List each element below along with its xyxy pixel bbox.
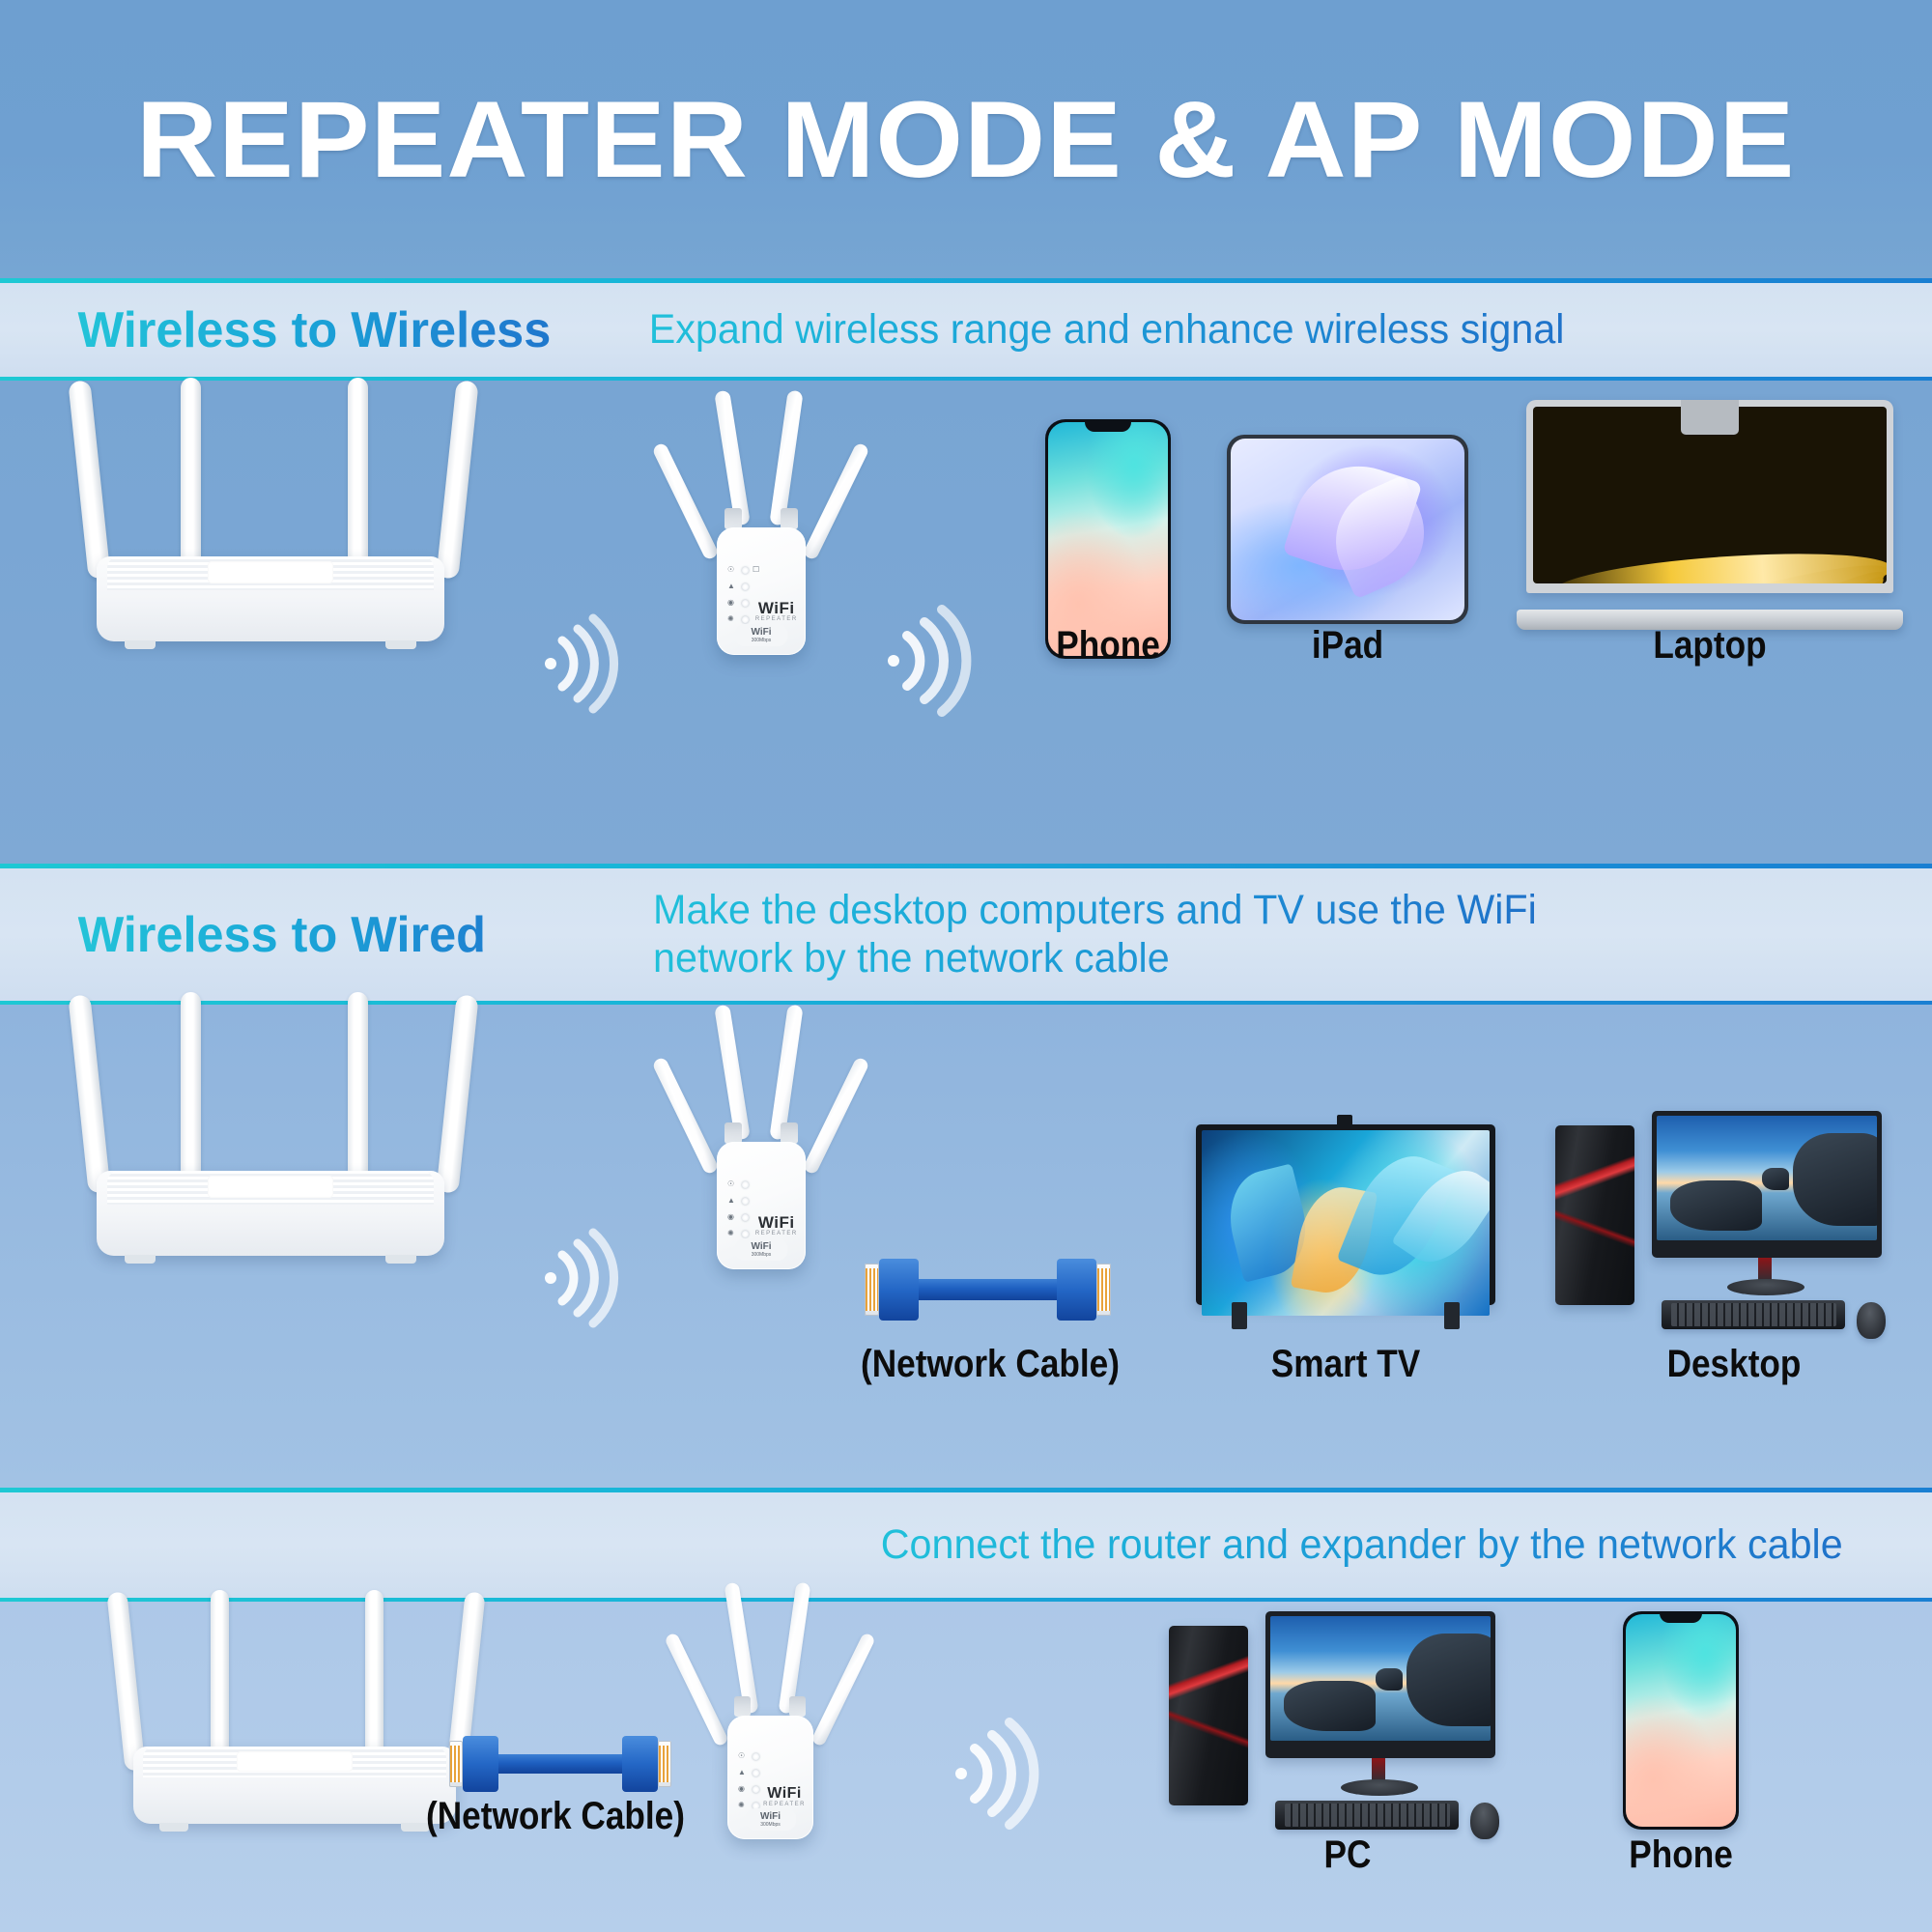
repeater-brand-primary: WiFi	[763, 1787, 806, 1801]
router-body	[97, 556, 444, 641]
repeater-antenna-hinge	[724, 1122, 742, 1144]
keyboard	[1662, 1300, 1845, 1329]
router-antenna	[436, 380, 478, 579]
wifi-icon: ◉	[727, 599, 738, 607]
led-indicator	[753, 1786, 759, 1793]
led-indicator	[742, 583, 749, 590]
band-description-wireless-to-wireless: Expand wireless range and enhance wirele…	[649, 306, 1565, 355]
cable-pins-right	[659, 1746, 670, 1782]
repeater-brand-primary: WiFi	[755, 1215, 798, 1230]
router-antenna	[211, 1590, 229, 1772]
led-indicator	[742, 1198, 749, 1205]
repeater-body: ☉ ▲ ◉ ✺	[717, 1142, 806, 1269]
keyboard	[1275, 1801, 1459, 1830]
led-indicator	[753, 1753, 759, 1760]
repeater-antenna	[802, 441, 869, 560]
power-icon: ☉	[738, 1752, 749, 1760]
repeater-device-2: ☉ ▲ ◉ ✺	[676, 1005, 850, 1285]
router-antenna	[348, 992, 368, 1193]
repeater-device-1: ☉ ☐ ▲ ◉ ✺	[676, 390, 850, 670]
tablet-screen	[1231, 439, 1464, 620]
phone-device-1	[1045, 419, 1171, 659]
signal-icon: ▲	[727, 1197, 738, 1205]
band-description-line2: network by the network cable	[653, 935, 1537, 983]
wifi-signal-router-to-repeater	[529, 1225, 645, 1331]
cable-pins-left	[450, 1746, 462, 1782]
router-foot	[125, 640, 156, 649]
tv-screen	[1202, 1130, 1490, 1316]
mouse	[1857, 1302, 1886, 1339]
router-antenna	[68, 994, 110, 1193]
repeater-antenna	[724, 1582, 758, 1715]
pc-tower	[1555, 1125, 1634, 1305]
repeater-spec-badge: WiFi 300Mbps	[735, 1238, 787, 1261]
section-body-wireless-to-wired: ☉ ▲ ◉ ✺	[0, 1005, 1932, 1488]
mouse	[1470, 1803, 1499, 1839]
monitor-wallpaper-stack	[1376, 1668, 1402, 1690]
signal-icon: ▲	[738, 1769, 749, 1776]
repeater-device-3: ☉ ▲ ◉ ✺	[688, 1582, 857, 1853]
keyboard-keys	[1671, 1303, 1836, 1326]
band-description-ap-mode: Connect the router and expander by the n…	[880, 1521, 1842, 1570]
router-device-2	[68, 995, 473, 1256]
phone-notch	[1085, 419, 1131, 432]
led-indicator	[742, 1214, 749, 1221]
ethernet-cable-3	[449, 1725, 671, 1803]
band-description-line1: Make the desktop computers and TV use th…	[653, 887, 1537, 935]
repeater-antenna	[664, 1632, 729, 1747]
pc-monitor	[1652, 1111, 1882, 1258]
caption-desktop: Desktop	[1615, 1343, 1853, 1386]
section-band-wireless-to-wired: Wireless to Wired Make the desktop compu…	[0, 864, 1932, 1005]
router-antenna	[436, 994, 478, 1193]
tablet-device-1	[1227, 435, 1468, 624]
wifi-signal-router-to-repeater	[529, 611, 645, 717]
tv-device	[1196, 1124, 1495, 1329]
router-antenna	[68, 380, 110, 579]
pc-tower	[1169, 1626, 1248, 1805]
phone-device-3	[1623, 1611, 1739, 1830]
router-label-plate	[208, 561, 333, 583]
desktop-pc-device	[1555, 1111, 1913, 1352]
router-device-1	[68, 381, 473, 641]
repeater-led-panel: ☉ ▲ ◉ ✺	[738, 1752, 759, 1812]
router-foot	[385, 640, 416, 649]
repeater-antenna-hinge	[781, 1122, 798, 1144]
router-foot	[125, 1255, 156, 1264]
router-brand-text	[208, 1181, 333, 1191]
monitor-wallpaper-stack	[1762, 1168, 1788, 1190]
led-indicator	[742, 1181, 749, 1188]
router-antenna	[365, 1590, 384, 1772]
caption-ipad: iPad	[1241, 624, 1454, 668]
page-title: REPEATER MODE & AP MODE	[136, 77, 1795, 202]
repeater-led-panel: ☉ ▲ ◉ ✺	[727, 1180, 749, 1240]
repeater-badge-primary: WiFi	[746, 1811, 796, 1822]
router-antenna	[181, 992, 201, 1193]
section-body-wireless-to-wireless: ☉ ☐ ▲ ◉ ✺	[0, 381, 1932, 864]
router-foot	[385, 1255, 416, 1264]
repeater-antenna	[651, 1056, 719, 1175]
repeater-badge-primary: WiFi	[735, 627, 787, 638]
router-device-3	[106, 1582, 483, 1824]
router-body	[97, 1171, 444, 1256]
monitor-base	[1727, 1279, 1804, 1295]
cable-plug-left	[463, 1736, 498, 1792]
repeater-antenna	[714, 1005, 751, 1141]
wifi-icon: ◉	[727, 1213, 738, 1221]
repeater-antenna-hinge	[724, 508, 742, 529]
router-label-plate	[208, 1176, 333, 1198]
repeater-brand-secondary: REPEATER	[755, 1231, 798, 1236]
repeater-brand-primary: WiFi	[755, 601, 798, 615]
repeater-antenna	[651, 441, 719, 560]
wps-gear-icon: ✺	[738, 1802, 749, 1809]
led-indicator	[742, 1231, 749, 1237]
router-brand-text	[208, 567, 333, 577]
router-antenna	[106, 1591, 145, 1771]
repeater-badge-primary: WiFi	[735, 1241, 787, 1252]
power-icon: ☉	[727, 566, 738, 574]
repeater-badge-secondary: 300Mbps	[746, 1822, 796, 1828]
pc-monitor-screen	[1657, 1116, 1877, 1240]
tv-camera	[1337, 1115, 1352, 1128]
router-brand-text	[237, 1756, 353, 1766]
repeater-badge-secondary: 300Mbps	[735, 1252, 787, 1258]
led-indicator	[742, 616, 749, 623]
ethernet-cable-2	[865, 1246, 1111, 1333]
infographic-page: REPEATER MODE & AP MODE Wireless to Wire…	[0, 0, 1932, 1932]
repeater-badge-secondary: 300Mbps	[735, 638, 787, 643]
caption-phone: Phone	[1002, 624, 1214, 668]
lan-icon: ☐	[753, 566, 763, 574]
tv-foot	[1232, 1302, 1247, 1329]
router-label-plate	[237, 1751, 353, 1772]
pc-monitor	[1265, 1611, 1495, 1758]
repeater-brand-mark: WiFi REPEATER	[755, 1215, 798, 1236]
keyboard-keys	[1285, 1804, 1450, 1827]
led-indicator	[753, 1770, 759, 1776]
section-band-wireless-to-wireless: Wireless to Wireless Expand wireless ran…	[0, 278, 1932, 381]
router-antenna	[181, 378, 201, 579]
repeater-body: ☉ ☐ ▲ ◉ ✺	[717, 527, 806, 655]
laptop-camera-notch	[1681, 400, 1740, 435]
repeater-antenna-hinge	[789, 1696, 806, 1717]
pc-tower-accent	[1555, 1125, 1634, 1305]
desktop-pc-device-3	[1169, 1611, 1526, 1853]
repeater-brand-mark: WiFi REPEATER	[755, 601, 798, 621]
cable-plug-right	[1057, 1259, 1096, 1321]
band-label-wireless-to-wireless: Wireless to Wireless	[78, 301, 612, 359]
caption-laptop: Laptop	[1604, 624, 1816, 668]
cable-plug-right	[622, 1736, 658, 1792]
cable-wire	[899, 1279, 1077, 1300]
tv-foot	[1444, 1302, 1460, 1329]
repeater-antenna	[769, 390, 803, 526]
repeater-spec-badge: WiFi 300Mbps	[735, 624, 787, 646]
caption-network-cable: (Network Cable)	[795, 1343, 1186, 1386]
wps-gear-icon: ✺	[727, 1230, 738, 1237]
repeater-antenna-hinge	[781, 508, 798, 529]
repeater-antenna	[802, 1056, 869, 1175]
section-body-ap-mode: (Network Cable) ☉ ▲	[0, 1602, 1932, 1932]
wifi-icon: ◉	[738, 1785, 749, 1793]
phone-notch	[1660, 1611, 1702, 1623]
monitor-wallpaper-rock	[1284, 1681, 1377, 1731]
phone-screen	[1626, 1614, 1736, 1827]
repeater-antenna	[810, 1632, 876, 1747]
repeater-spec-badge: WiFi 300Mbps	[746, 1808, 796, 1831]
caption-pc: PC	[1241, 1833, 1454, 1877]
pc-monitor-screen	[1270, 1616, 1491, 1741]
caption-smart-tv: Smart TV	[1239, 1343, 1452, 1386]
header-banner: REPEATER MODE & AP MODE	[0, 0, 1932, 278]
repeater-antenna	[779, 1582, 811, 1715]
led-indicator	[742, 600, 749, 607]
monitor-wallpaper-rock	[1670, 1180, 1763, 1231]
power-icon: ☉	[727, 1180, 738, 1188]
caption-phone: Phone	[1575, 1833, 1787, 1877]
cable-pins-right	[1097, 1268, 1110, 1310]
signal-icon: ▲	[727, 582, 738, 590]
laptop-device-1	[1517, 400, 1903, 630]
repeater-brand-mark: WiFi REPEATER	[763, 1787, 806, 1806]
wps-gear-icon: ✺	[727, 615, 738, 623]
repeater-body: ☉ ▲ ◉ ✺	[727, 1716, 813, 1839]
cable-plug-left	[879, 1259, 919, 1321]
monitor-base	[1341, 1779, 1418, 1796]
monitor-wallpaper-cliff	[1406, 1634, 1491, 1725]
repeater-antenna-hinge	[734, 1696, 751, 1717]
wifi-signal-repeater-to-clients	[942, 1716, 1067, 1832]
repeater-antenna	[769, 1005, 803, 1141]
cable-pins-left	[866, 1268, 878, 1310]
led-indicator	[742, 567, 749, 574]
repeater-brand-secondary: REPEATER	[763, 1802, 806, 1807]
monitor-wallpaper-cliff	[1793, 1133, 1877, 1225]
wifi-signal-repeater-to-clients	[874, 603, 1000, 719]
pc-tower-accent	[1169, 1626, 1248, 1805]
router-foot	[159, 1823, 188, 1832]
repeater-antenna	[714, 390, 751, 526]
phone-screen	[1048, 422, 1168, 656]
cable-wire	[480, 1754, 640, 1773]
router-antenna	[348, 378, 368, 579]
band-label-wireless-to-wired: Wireless to Wired	[78, 906, 617, 964]
laptop-lid	[1526, 400, 1893, 593]
repeater-brand-secondary: REPEATER	[755, 616, 798, 622]
